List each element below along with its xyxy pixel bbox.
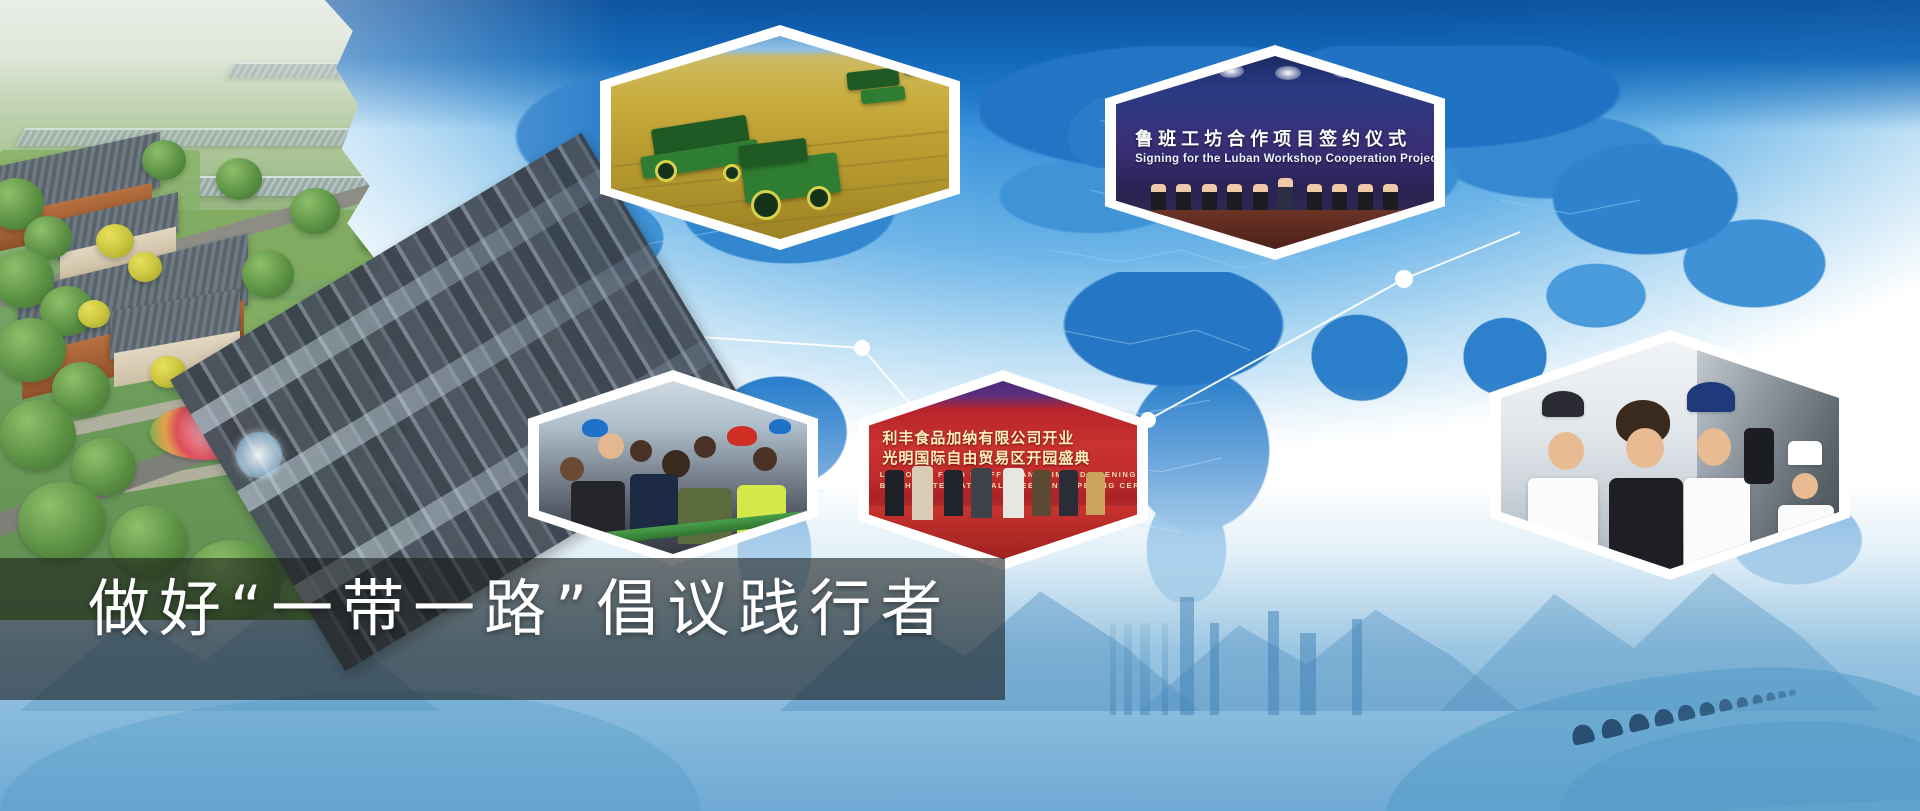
luban-workshop-signing-photo: 鲁班工坊合作项目签约仪式 Signing for the Luban Works… (1116, 56, 1434, 249)
agriculture-harvest-photo (611, 36, 949, 239)
city-skyline-silhouette (1352, 619, 1362, 715)
city-skyline-silhouette (1210, 623, 1219, 715)
luban-banner-cn: 鲁班工坊合作项目签约仪式 (1135, 125, 1428, 151)
city-skyline-silhouette (1300, 633, 1316, 715)
food-banner-cn-line1: 利丰食品加纳有限公司开业 (882, 427, 1129, 448)
culinary-training-photo (1501, 341, 1839, 569)
city-skyline-silhouette (1110, 623, 1540, 715)
food-banner-cn-line2: 光明国际自由贸易区开园盛典 (882, 447, 1129, 468)
belt-and-road-banner: 鲁班工坊合作项目签约仪式 Signing for the Luban Works… (0, 0, 1920, 811)
leefound-food-ghana-opening-photo: 利丰食品加纳有限公司开业 光明国际自由贸易区开园盛典 LEEFOUND FOOD… (869, 381, 1137, 559)
dark-uniform-figure (1744, 428, 1774, 484)
landmass-east-asia (1530, 130, 1860, 360)
black-jacket (1609, 478, 1683, 569)
ghana-site-visit-photo (539, 381, 807, 554)
luban-banner-en: Signing for the Luban Workshop Cooperati… (1135, 153, 1434, 165)
city-skyline-silhouette (1268, 611, 1279, 715)
city-skyline-silhouette (1180, 597, 1194, 715)
page-title: 做好“一带一路”倡议践行者 (88, 578, 951, 640)
